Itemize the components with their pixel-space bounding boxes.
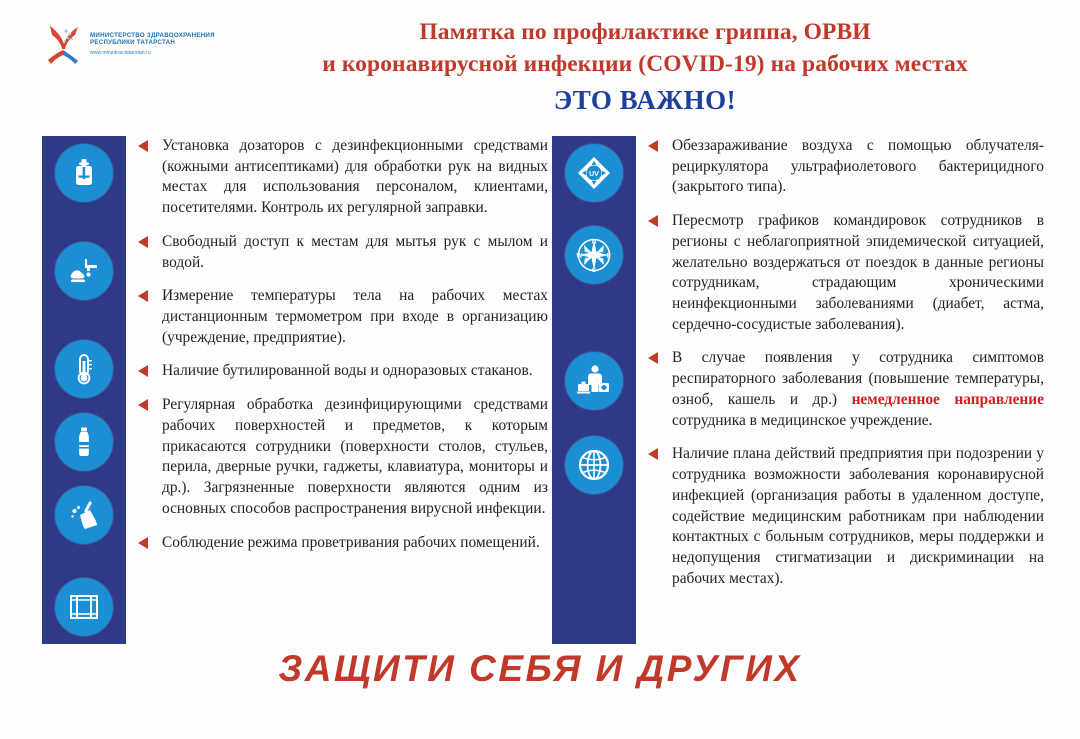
list-item: Измерение температуры тела на рабочих ме…	[138, 286, 548, 348]
svg-text:W: W	[576, 252, 583, 259]
list-item-text: Наличие плана действий предприятия при п…	[672, 445, 1044, 586]
list-item-text: Регулярная обработка дезинфицирующими ср…	[162, 396, 548, 517]
bullet-marker-icon	[138, 290, 148, 302]
bullet-marker-icon	[648, 140, 658, 152]
thermometer-icon	[55, 340, 113, 398]
bullet-marker-icon	[648, 448, 658, 460]
ministry-logo-mark-icon	[42, 22, 84, 66]
list-item-text: Свободный доступ к местам для мытья рук …	[162, 233, 548, 271]
svg-text:S: S	[592, 267, 597, 274]
ministry-logo-text: МИНИСТЕРСТВО ЗДРАВООХРАНЕНИЯ РЕСПУБЛИКИ …	[90, 32, 215, 56]
globe-icon	[565, 436, 623, 494]
left-icon-rail	[42, 136, 126, 644]
urgent-referral-highlight: немедленное направление	[852, 391, 1044, 408]
bullet-marker-icon	[648, 352, 658, 364]
list-item: В случае появления у сотрудника симптомо…	[648, 348, 1044, 431]
ministry-logo-url: www.minzdrav.tatarstan.ru	[90, 50, 215, 56]
window-ventilation-icon	[55, 578, 113, 636]
list-item: Свободный доступ к местам для мытья рук …	[138, 232, 548, 273]
bullet-marker-icon	[138, 140, 148, 152]
left-bullet-list: Установка дозаторов с дезинфекционными с…	[138, 136, 548, 553]
broom-cleaning-icon	[55, 486, 113, 544]
bullet-marker-icon	[138, 236, 148, 248]
title-line-1: Памятка по профилактике гриппа, ОРВИ	[250, 16, 1040, 48]
svg-text:E: E	[606, 252, 611, 259]
right-icon-rail: UV	[552, 136, 636, 644]
uv-lamp-icon: UV	[565, 144, 623, 202]
compass-rose-icon: N S W E	[565, 226, 623, 284]
poster-header: МИНИСТЕРСТВО ЗДРАВООХРАНЕНИЯ РЕСПУБЛИКИ …	[0, 0, 1080, 122]
list-item: Установка дозаторов с дезинфекционными с…	[138, 136, 548, 219]
list-item: Соблюдение режима проветривания рабочих …	[138, 533, 548, 554]
bullet-marker-icon	[648, 215, 658, 227]
bullet-marker-icon	[138, 399, 148, 411]
title-important: ЭТО ВАЖНО!	[250, 85, 1040, 116]
bullet-marker-icon	[138, 537, 148, 549]
bullet-marker-icon	[138, 365, 148, 377]
list-item: Обеззараживание воздуха с помощью облуча…	[648, 136, 1044, 198]
ministry-logo-line1: МИНИСТЕРСТВО ЗДРАВООХРАНЕНИЯ	[90, 32, 215, 39]
content-columns: Установка дозаторов с дезинфекционными с…	[0, 136, 1080, 644]
list-item: Наличие плана действий предприятия при п…	[648, 444, 1044, 589]
svg-text:UV: UV	[589, 171, 599, 178]
list-item-text: Пересмотр графиков командировок сотрудни…	[672, 212, 1044, 333]
list-item-text: Измерение температуры тела на рабочих ме…	[162, 287, 548, 345]
title-line-2: и коронавирусной инфекции (COVID-19) на …	[250, 48, 1040, 80]
list-item: Пересмотр графиков командировок сотрудни…	[648, 211, 1044, 335]
ministry-logo: МИНИСТЕРСТВО ЗДРАВООХРАНЕНИЯ РЕСПУБЛИКИ …	[42, 18, 242, 70]
list-item: Регулярная обработка дезинфицирующими ср…	[138, 395, 548, 519]
handwash-faucet-icon	[55, 242, 113, 300]
ministry-logo-line2: РЕСПУБЛИКИ ТАТАРСТАН	[90, 39, 215, 46]
water-bottle-icon	[55, 413, 113, 471]
medical-traveler-icon	[565, 352, 623, 410]
list-item-text: Обеззараживание воздуха с помощью облуча…	[672, 137, 1044, 195]
sanitizer-dispenser-icon	[55, 144, 113, 202]
left-column: Установка дозаторов с дезинфекционными с…	[42, 136, 547, 644]
poster-title-block: Памятка по профилактике гриппа, ОРВИ и к…	[250, 16, 1040, 116]
right-column: UV	[552, 136, 1042, 644]
list-item-text: Соблюдение режима проветривания рабочих …	[162, 534, 540, 551]
list-item-text: Наличие бутилированной воды и одноразовы…	[162, 362, 533, 379]
poster-canvas: МИНИСТЕРСТВО ЗДРАВООХРАНЕНИЯ РЕСПУБЛИКИ …	[0, 0, 1080, 739]
svg-text:N: N	[592, 239, 597, 246]
right-bullet-list: Обеззараживание воздуха с помощью облуча…	[648, 136, 1044, 589]
list-item: Наличие бутилированной воды и одноразовы…	[138, 361, 548, 382]
footer-slogan: ЗАЩИТИ СЕБЯ И ДРУГИХ	[0, 648, 1080, 690]
list-item-text-tail: сотрудника в медицинское учреждение.	[672, 412, 932, 429]
list-item-text: Установка дозаторов с дезинфекционными с…	[162, 137, 548, 216]
poster-footer: ЗАЩИТИ СЕБЯ И ДРУГИХ	[0, 648, 1080, 690]
